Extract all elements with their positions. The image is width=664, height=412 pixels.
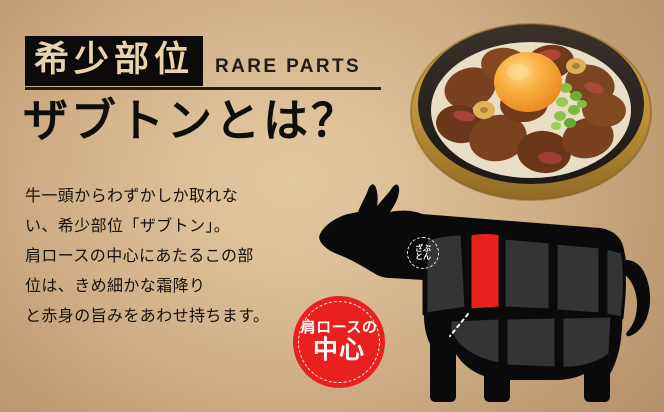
headline-divider — [25, 87, 381, 90]
kicker-badge-jp: 希少部位 — [25, 36, 203, 86]
kicker-label-en: RARE PARTS — [215, 57, 361, 86]
badge-title: 中心 — [313, 336, 365, 364]
seal-char: と — [415, 253, 423, 261]
shoulder-loin-center-badge: 肩ロースの 中心 — [293, 296, 385, 388]
body-copy: 牛一頭からわずかしか取れな い、希少部位「ザブトン」。 肩ロースの中心にあたるこ… — [25, 188, 315, 338]
body-line: 位は、きめ細かな霜降り — [25, 278, 315, 294]
body-line: 肩ロースの中心にあたるこの部 — [25, 248, 315, 264]
promo-banner: 希少部位 RARE PARTS ザブトンとは？ 牛一頭からわずかしか取れな い、… — [0, 0, 664, 412]
zabuton-seal: ざ ぶ と ん — [406, 236, 440, 270]
zabuton-seal-chars: ざ ぶ と ん — [415, 245, 431, 261]
headline-row: 希少部位 RARE PARTS — [25, 36, 361, 86]
body-line: い、希少部位「ザブトン」。 — [25, 218, 315, 234]
body-line: と赤身の旨みをあわせ持ちます。 — [25, 308, 315, 324]
seal-char: ん — [423, 253, 431, 261]
badge-subtitle: 肩ロースの — [301, 320, 378, 336]
body-line: 牛一頭からわずかしか取れな — [25, 188, 315, 204]
page-title: ザブトンとは？ — [23, 96, 359, 146]
